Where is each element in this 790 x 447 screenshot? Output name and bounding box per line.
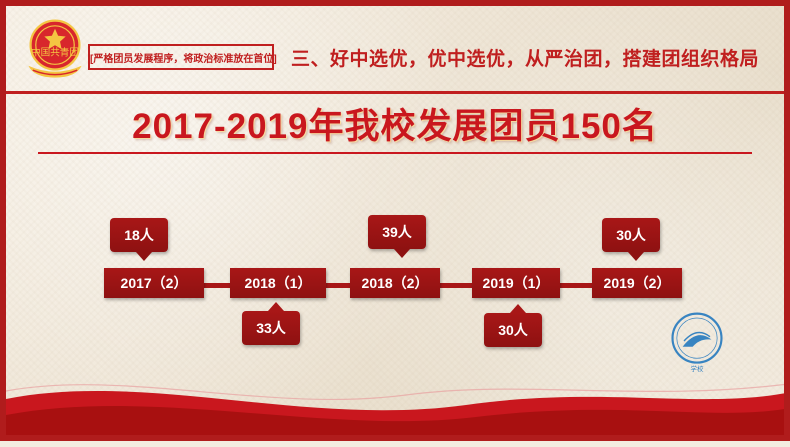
value-bubble-2019-2: 30人 <box>602 218 660 252</box>
slide-canvas: 中国共青团 [严格团员发展程序，将政治标准放在首位] 三、好中选优，优中选优，从… <box>0 0 790 441</box>
timeline-node-2018-1[interactable]: 2018（1） <box>230 268 326 298</box>
value-bubble-2017-2: 18人 <box>110 218 168 252</box>
timeline-node-2018-2[interactable]: 2018（2） <box>350 268 440 298</box>
timeline-node-2019-2[interactable]: 2019（2） <box>592 268 682 298</box>
timeline-node-2019-1[interactable]: 2019（1） <box>472 268 560 298</box>
value-bubble-2019-1: 30人 <box>484 313 542 347</box>
bottom-decoration <box>6 365 784 435</box>
value-bubble-2018-2: 39人 <box>368 215 426 249</box>
timeline-node-2017-2[interactable]: 2017（2） <box>104 268 204 298</box>
connector-4 <box>558 283 596 288</box>
connector-3 <box>438 283 476 288</box>
value-bubble-2018-1: 33人 <box>242 311 300 345</box>
